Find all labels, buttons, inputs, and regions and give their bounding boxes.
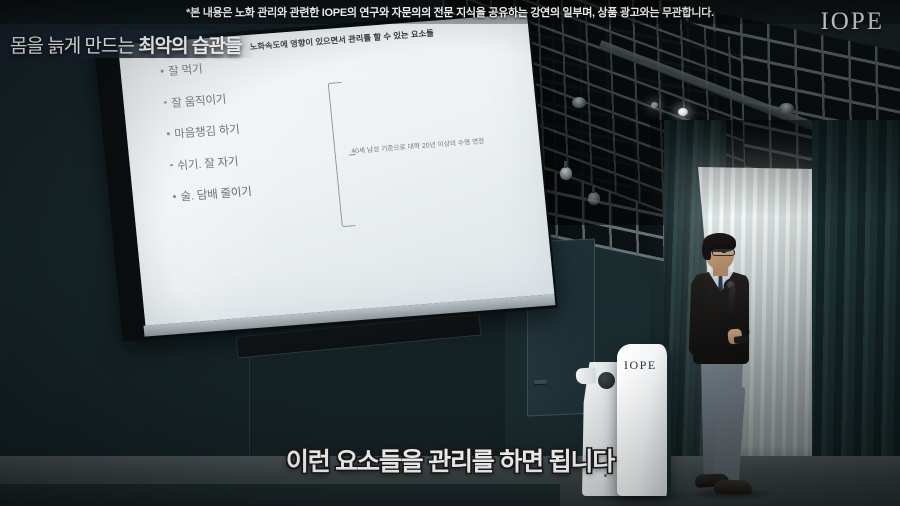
ceiling-downlight: [678, 108, 688, 116]
title-bold-part: 최악의 습관들: [138, 36, 241, 57]
podium-port-icon: [598, 372, 615, 389]
bullet-label: 마음챙김 하기: [174, 121, 241, 142]
presentation-slide: 노화속도에 영향이 있으면서 관리를 할 수 있는 요소들 잘 먹기 잘 움직이…: [118, 13, 554, 325]
bullet-label: 잘 움직이기: [171, 90, 227, 110]
eyeglasses-icon: [712, 249, 735, 256]
disclaimer-text: *본 내용은 노화 관리와 관련한 IOPE의 연구와 자문의의 전문 지식을 …: [186, 4, 714, 20]
page-title: 몸을 늙게 만드는 최악의 습관들: [10, 31, 241, 58]
projection-screen-surface: 노화속도에 영향이 있으면서 관리를 할 수 있는 요소들 잘 먹기 잘 움직이…: [118, 13, 554, 325]
title-banner: 몸을 늙게 만드는 최악의 습관들: [0, 30, 254, 58]
ceiling-speaker-dome: [779, 103, 794, 114]
video-frame: 🚶 노화속도에 영향이 있으면서 관리를 할 수 있는 요소들: [0, 0, 900, 506]
list-item: 마음챙김 하기: [166, 112, 357, 143]
bullet-dot-icon: [173, 195, 176, 198]
ceiling-speaker-dome: [572, 97, 586, 108]
security-camera-icon: [588, 192, 600, 205]
disclaimer-bar: *본 내용은 노화 관리와 관련한 IOPE의 연구와 자문의의 전문 지식을 …: [0, 0, 900, 24]
bullet-dot-icon: [170, 164, 173, 167]
bullet-dot-icon: [164, 101, 167, 104]
brand-watermark: IOPE: [820, 8, 884, 36]
presenter-hair-side: [702, 240, 711, 260]
lecture-hall-scene: 🚶 노화속도에 영향이 있으면서 관리를 할 수 있는 요소들: [0, 0, 900, 506]
bullet-label: 잘 먹기: [167, 61, 203, 80]
list-item: 잘 움직이기: [163, 81, 354, 112]
bullet-dot-icon: [167, 132, 170, 135]
bullet-dot-icon: [161, 70, 164, 73]
stage-floor-left: [0, 484, 560, 506]
security-camera-icon: [560, 167, 572, 180]
ceiling-downlight: [651, 102, 658, 108]
list-item: 술. 담배 줄이기: [172, 175, 363, 206]
projection-screen: 노화속도에 영향이 있으면서 관리를 할 수 있는 요소들 잘 먹기 잘 움직이…: [104, 14, 551, 335]
podium-brand-label: IOPE: [624, 358, 670, 373]
title-plain-part: 몸을 늙게 만드는: [10, 36, 138, 57]
bullet-label: 술. 담배 줄이기: [180, 183, 253, 204]
presenter-shoe-right: [714, 479, 752, 494]
podium-top-ledge: [575, 367, 596, 384]
slide-annotation: 40세 남성 기준으로 대략 20년 이상의 수명 연장: [351, 131, 536, 155]
bullet-label: 쉬기. 잘 자기: [177, 153, 239, 174]
subtitle-caption: 이런 요소들을 관리를 하면 됩니다: [0, 442, 900, 478]
list-item: 쉬기. 잘 자기: [169, 143, 360, 174]
door-handle-icon: [534, 380, 547, 385]
